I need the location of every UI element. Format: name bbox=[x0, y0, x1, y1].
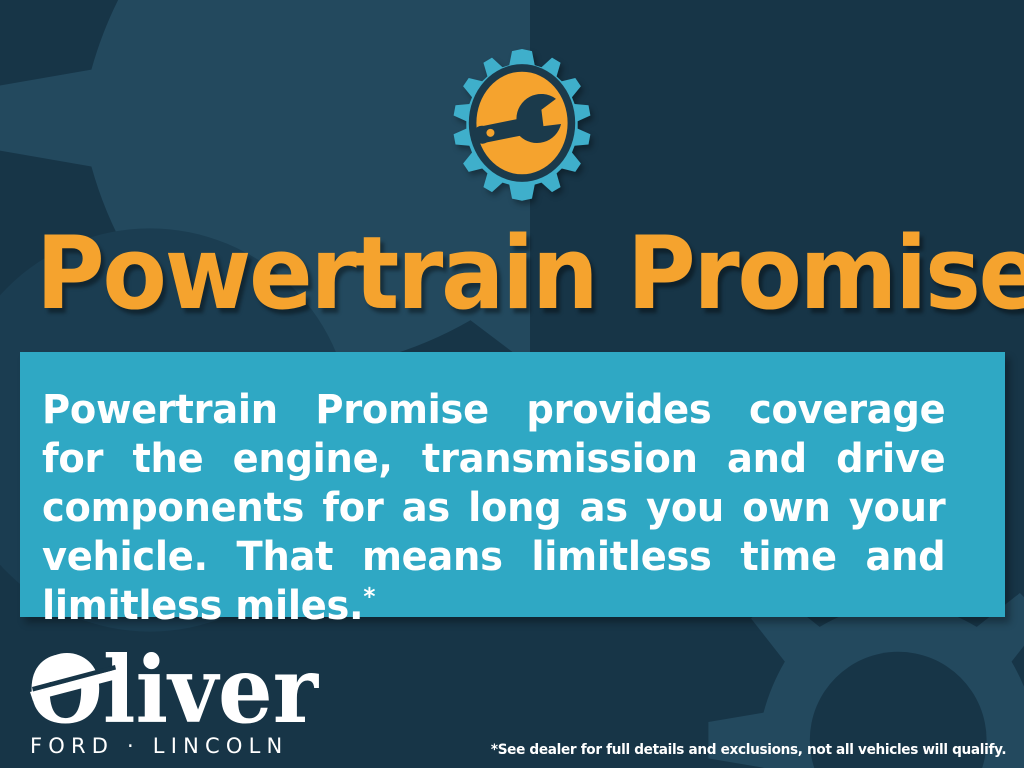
body-copy: Powertrain Promise provides coverage for… bbox=[42, 386, 945, 631]
oliver-ford-lincoln-logo: Oliver FORD · LINCOLN bbox=[28, 640, 328, 760]
disclaimer-text: *See dealer for full details and exclusi… bbox=[491, 742, 1006, 758]
gear-wrench-icon bbox=[427, 28, 617, 218]
powertrain-promise-poster: Powertrain Promise Powertrain Promise pr… bbox=[0, 0, 1024, 768]
body-panel: Powertrain Promise provides coverage for… bbox=[20, 352, 1005, 617]
body-copy-asterisk: * bbox=[363, 583, 375, 611]
logo-brands: FORD · LINCOLN bbox=[30, 734, 288, 758]
body-copy-text: Powertrain Promise provides coverage for… bbox=[42, 387, 945, 629]
page-title: Powertrain Promise bbox=[36, 222, 988, 325]
